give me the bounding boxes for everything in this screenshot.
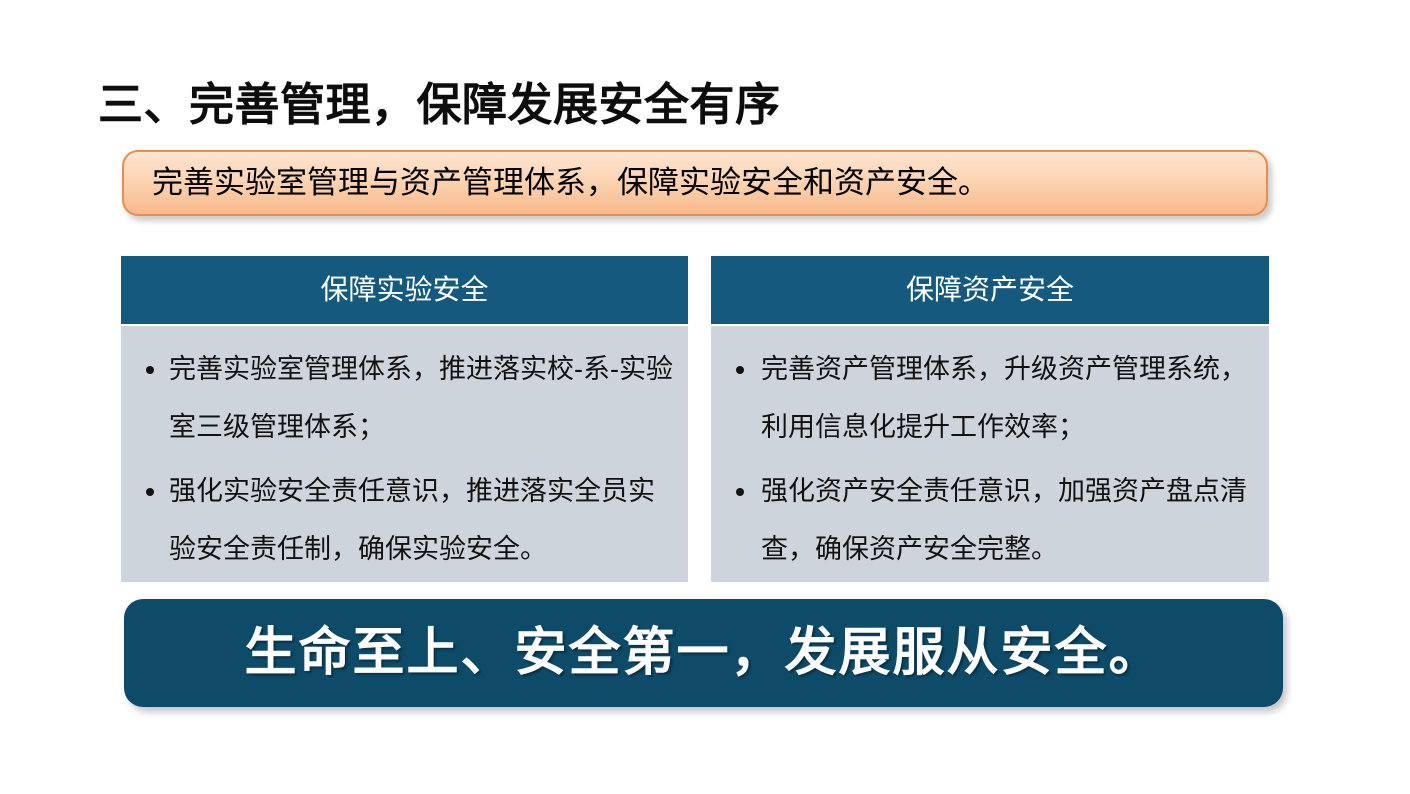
column-left-header-label: 保障实验安全 [121, 256, 688, 324]
column-right-body: 完善资产管理体系，升级资产管理系统，利用信息化提升工作效率； 强化资产安全责任意… [711, 326, 1269, 582]
list-item: 完善资产管理体系，升级资产管理系统，利用信息化提升工作效率； [725, 340, 1255, 456]
column-right-bullet-list: 完善资产管理体系，升级资产管理系统，利用信息化提升工作效率； 强化资产安全责任意… [725, 340, 1255, 578]
column-asset-safety: 保障资产安全 完善资产管理体系，升级资产管理系统，利用信息化提升工作效率； 强化… [711, 256, 1269, 582]
column-experiment-safety: 保障实验安全 完善实验室管理体系，推进落实校-系-实验室三级管理体系； 强化实验… [121, 256, 688, 582]
slide-canvas: 三、完善管理，保障发展安全有序 完善实验室管理与资产管理体系，保障实验安全和资产… [0, 0, 1410, 794]
column-right-header: 保障资产安全 [711, 256, 1269, 324]
slogan-banner-text: 生命至上、安全第一，发展服从安全。 [124, 599, 1283, 707]
column-right-header-label: 保障资产安全 [711, 256, 1269, 324]
statement-banner-text: 完善实验室管理与资产管理体系，保障实验安全和资产安全。 [152, 152, 1250, 214]
column-left-header: 保障实验安全 [121, 256, 688, 324]
list-item: 强化实验安全责任意识，推进落实全员实验安全责任制，确保实验安全。 [135, 462, 674, 578]
list-item: 完善实验室管理体系，推进落实校-系-实验室三级管理体系； [135, 340, 674, 456]
statement-banner: 完善实验室管理与资产管理体系，保障实验安全和资产安全。 [122, 150, 1268, 216]
page-title: 三、完善管理，保障发展安全有序 [98, 74, 1248, 136]
slogan-banner: 生命至上、安全第一，发展服从安全。 [124, 599, 1283, 707]
column-left-body: 完善实验室管理体系，推进落实校-系-实验室三级管理体系； 强化实验安全责任意识，… [121, 326, 688, 582]
list-item: 强化资产安全责任意识，加强资产盘点清查，确保资产安全完整。 [725, 462, 1255, 578]
column-left-bullet-list: 完善实验室管理体系，推进落实校-系-实验室三级管理体系； 强化实验安全责任意识，… [135, 340, 674, 578]
